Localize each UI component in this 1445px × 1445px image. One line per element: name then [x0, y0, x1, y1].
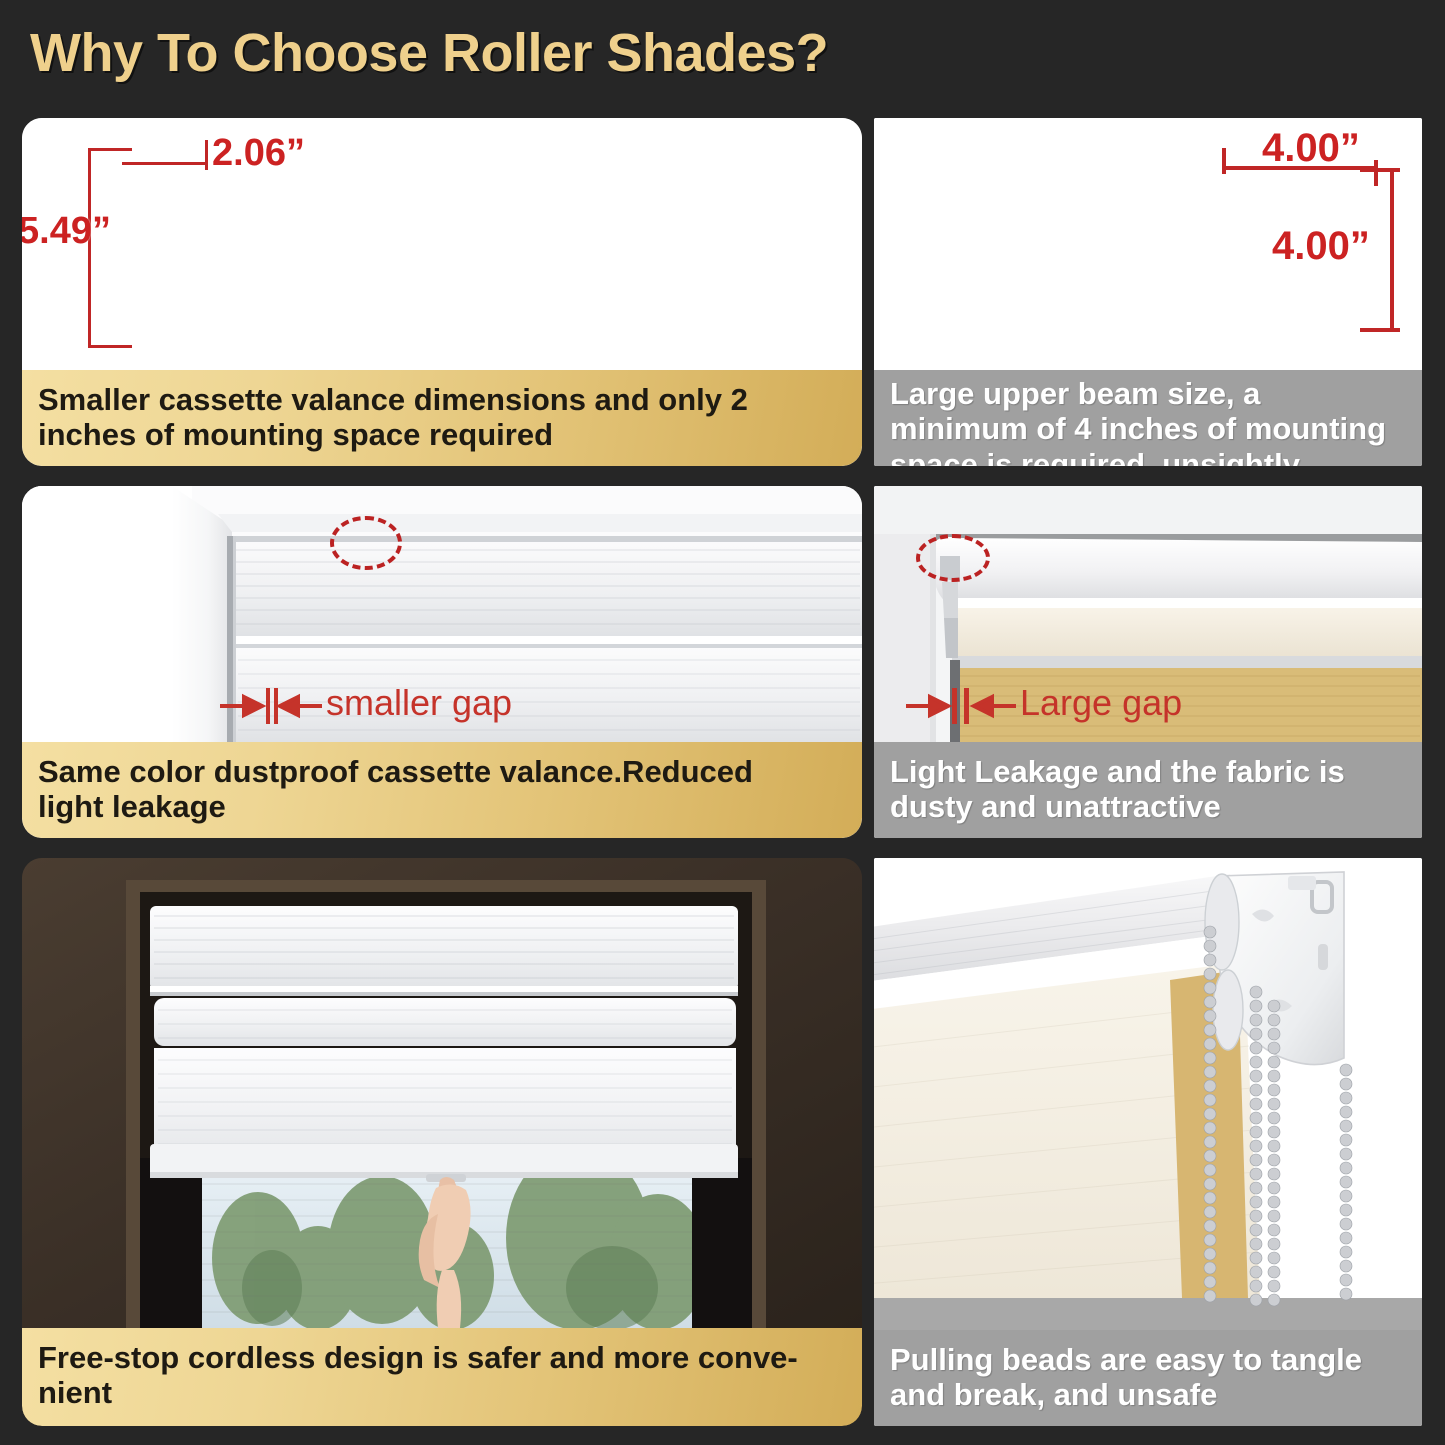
gap-highlight-ellipse: [330, 516, 402, 570]
caption-pro-cordless-design: Free-stop cordless design is safer and m…: [22, 1328, 862, 1426]
beam-height-tick-bottom: [1360, 328, 1400, 332]
caption-con-pull-beads: Pulling beads are easy to tangle and bre…: [874, 1330, 1422, 1426]
height-dimension-tick-bottom: [88, 345, 132, 348]
caption-line-3: space is required, unsightly: [890, 447, 1386, 466]
panel-pro-cassette-size: 5.49” 2.06” Smaller cassette valance dim…: [22, 118, 862, 466]
panel-pro-cordless-design: Free-stop cordless design is safer and m…: [22, 858, 862, 1426]
caption-line-1: Free-stop cordless design is safer and m…: [38, 1340, 798, 1375]
photo-pull-beads: [874, 858, 1422, 1330]
width-dimension-line: [122, 162, 208, 165]
bead-chain-shade-illustration: [874, 858, 1422, 1330]
beam-width-label: 4.00”: [1262, 126, 1360, 171]
page-title: Why To Choose Roller Shades?: [30, 22, 828, 84]
photo-dustproof-valance: smaller gap: [22, 486, 862, 742]
caption-con-beam-size: Large upper beam size, a minimum of 4 in…: [874, 370, 1422, 466]
panel-pro-dustproof-valance: smaller gap Same color dustproof cassett…: [22, 486, 862, 838]
beam-width-tick-right: [1374, 160, 1378, 186]
caption-pro-dustproof-valance: Same color dustproof cassette valance.Re…: [22, 742, 862, 838]
caption-line-1: Same color dustproof cassette valance.Re…: [38, 754, 753, 789]
room-window-illustration: [22, 858, 862, 1328]
caption-con-light-leakage: Light Leakage and the fabric is dusty an…: [874, 742, 1422, 838]
beam-height-label: 4.00”: [1272, 224, 1370, 269]
caption-line-2: and break, and unsafe: [890, 1377, 1362, 1412]
beam-width-tick-left: [1222, 148, 1226, 174]
smaller-gap-label: smaller gap: [326, 682, 512, 724]
panel-con-light-leakage: Large gap Light Leakage and the fabric i…: [874, 486, 1422, 838]
photo-large-beam: 4.00” 4.00”: [874, 118, 1422, 370]
width-dimension-label: 2.06”: [212, 132, 305, 175]
caption-line-1: Pulling beads are easy to tangle: [890, 1342, 1362, 1377]
caption-line-1: Large upper beam size, a: [890, 376, 1386, 411]
gap-highlight-ellipse: [916, 534, 990, 582]
caption-line-2: dusty and unattractive: [890, 789, 1345, 824]
beam-height-line: [1390, 168, 1394, 332]
height-dimension-label: 5.49”: [22, 210, 111, 253]
caption-pro-cassette-size: Smaller cassette valance dimensions and …: [22, 370, 862, 466]
photo-room-window: [22, 858, 862, 1328]
photo-cassette-valance: 5.49” 2.06”: [22, 118, 862, 370]
caption-line-2: nient: [38, 1375, 798, 1410]
caption-line-1: Light Leakage and the fabric is: [890, 754, 1345, 789]
infographic-root: Why To Choose Roller Shades?: [0, 0, 1445, 1445]
caption-line-1: Smaller cassette valance dimensions and …: [38, 382, 748, 417]
caption-line-2: light leakage: [38, 789, 753, 824]
height-dimension-tick-top: [88, 148, 132, 151]
width-dimension-tick-right: [205, 140, 208, 170]
panel-con-pull-beads: Pulling beads are easy to tangle and bre…: [874, 858, 1422, 1426]
photo-light-leakage: Large gap: [874, 486, 1422, 742]
caption-line-2: minimum of 4 inches of mounting: [890, 411, 1386, 446]
caption-line-2: inches of mounting space required: [38, 417, 748, 452]
panel-con-beam-size: 4.00” 4.00” Large upper beam size, a min…: [874, 118, 1422, 466]
large-gap-label: Large gap: [1020, 682, 1182, 724]
beam-height-tick-top: [1360, 168, 1400, 172]
